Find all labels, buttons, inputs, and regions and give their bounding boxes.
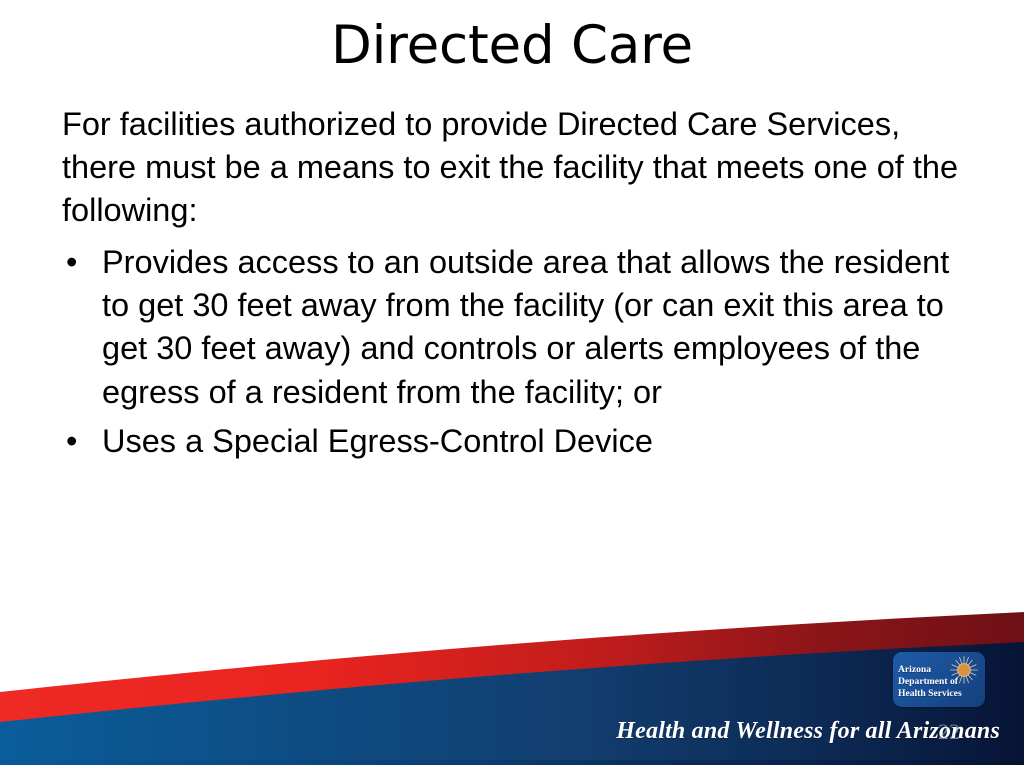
footer-tagline: Health and Wellness for all Arizonans	[0, 718, 1000, 745]
page-title: Directed Care	[0, 16, 1024, 75]
agency-logo: Arizona Department of Health Services	[893, 652, 985, 707]
list-item-text: Uses a Special Egress-Control Device	[102, 423, 653, 459]
list-item-text: Provides access to an outside area that …	[102, 244, 949, 410]
list-item: • Provides access to an outside area tha…	[58, 241, 970, 415]
slide-body: For facilities authorized to provide Dir…	[58, 103, 970, 470]
list-item: • Uses a Special Egress-Control Device	[58, 420, 970, 463]
bullet-list: • Provides access to an outside area tha…	[58, 241, 970, 464]
bullet-dot-icon: •	[66, 420, 77, 463]
intro-paragraph: For facilities authorized to provide Dir…	[58, 103, 970, 233]
slide-number: 22	[938, 719, 978, 745]
bullet-dot-icon: •	[66, 241, 77, 284]
slide-canvas: Directed Care For facilities authorized …	[0, 0, 1024, 768]
bottom-strip	[0, 760, 1024, 765]
agency-logo-text: Arizona Department of Health Services	[898, 664, 962, 700]
